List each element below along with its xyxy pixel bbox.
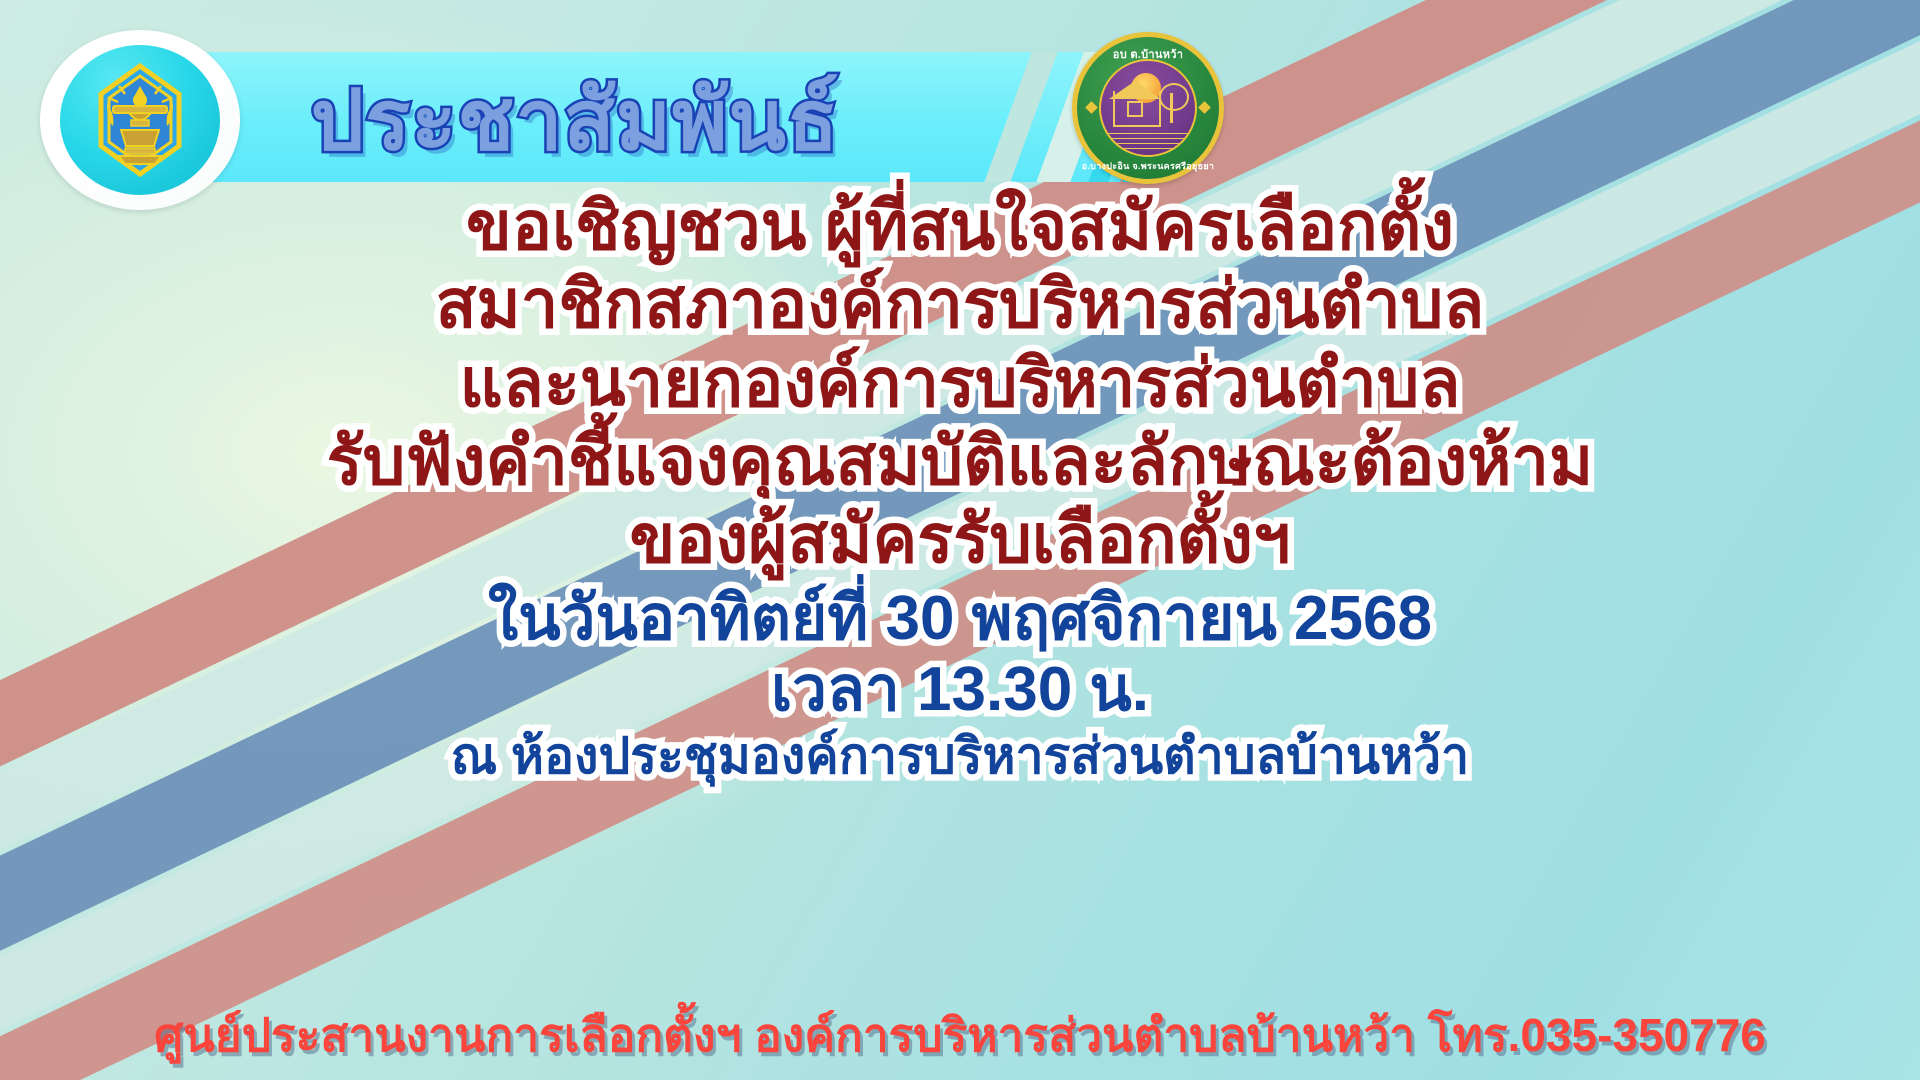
ect-caption-arc <box>60 45 220 195</box>
sao-logo-ring: อบ ต.บ้านหว้า อ.บางปะอิน จ.พระนครศรีอยุธ… <box>1077 37 1219 179</box>
announcement-line-1: ขอเชิญชวน ผู้ที่สนใจสมัครเลือกตั้ง <box>466 192 1454 262</box>
sao-logo-text-bottom: อ.บางปะอิน จ.พระนครศรีอยุธยา <box>1077 159 1219 173</box>
sao-ban-wa-logo: อบ ต.บ้านหว้า อ.บางปะอิน จ.พระนครศรีอยุธ… <box>1072 32 1224 184</box>
ect-logo-disc <box>60 45 220 195</box>
event-date-line: ในวันอาทิตย์ที่ 30 พฤศจิกายน 2568 <box>488 586 1432 651</box>
announcement-poster: ประชาสัมพันธ์ อบ ต.บ้านห <box>0 0 1920 1080</box>
rice-field-icon <box>1101 129 1195 151</box>
announcement-line-3: และนายกองค์การบริหารส่วนตำบล <box>460 349 1461 419</box>
banner-headline: ประชาสัมพันธ์ <box>255 58 895 180</box>
event-venue-line: ณ ห้องประชุมองค์การบริหารส่วนตำบลบ้านหว้… <box>451 730 1469 783</box>
event-time-line: เวลา 13.30 น. <box>771 657 1149 722</box>
announcement-line-2: สมาชิกสภาองค์การบริหารส่วนตำบล <box>436 270 1485 340</box>
sao-logo-center <box>1099 59 1197 157</box>
house-window-icon <box>1127 101 1143 117</box>
sao-diamond-right <box>1198 101 1211 114</box>
announcement-line-5: ของผู้สมัครรับเลือกตั้งฯ <box>629 505 1290 575</box>
tree-icon <box>1157 79 1187 123</box>
ect-logo <box>40 30 240 210</box>
sao-diamond-left <box>1085 101 1098 114</box>
announcement-body: ขอเชิญชวน ผู้ที่สนใจสมัครเลือกตั้ง สมาชิ… <box>0 186 1920 782</box>
footer-contact-line: ศูนย์ประสานงานการเลือกตั้งฯ องค์การบริหา… <box>0 999 1920 1072</box>
announcement-line-4: รับฟังคำชี้แจงคุณสมบัติและลักษณะต้องห้าม <box>327 427 1593 497</box>
